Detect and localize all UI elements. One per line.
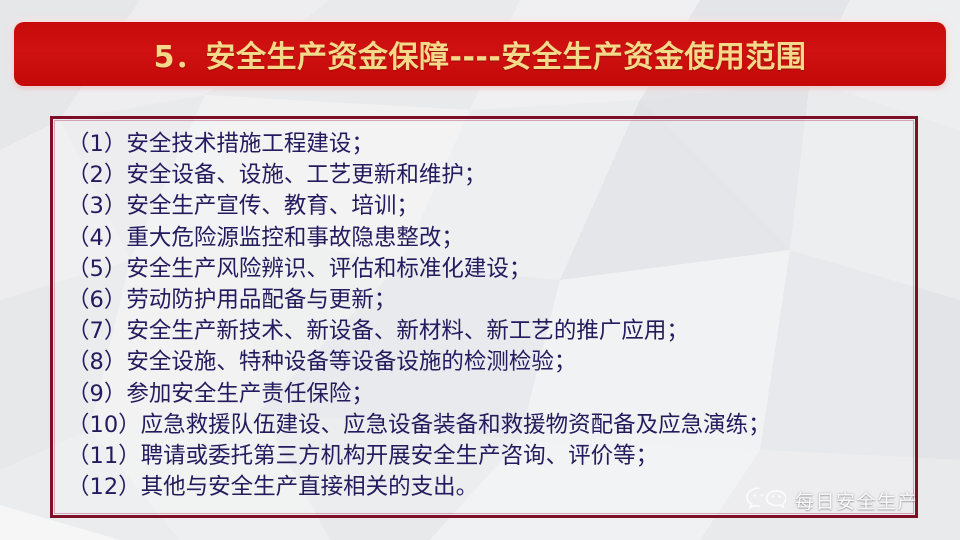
wechat-icon bbox=[744, 486, 786, 514]
watermark-label: 每日安全生产 bbox=[795, 487, 918, 514]
list-item: （8）安全设施、特种设备等设备设施的检测检验； bbox=[67, 347, 903, 378]
list-item: （10）应急救援队伍建设、应急设备装备和救援物资配备及应急演练； bbox=[67, 410, 903, 441]
title-banner: 5．安全生产资金保障----安全生产资金使用范围 bbox=[14, 22, 946, 86]
page-title: 5．安全生产资金保障----安全生产资金使用范围 bbox=[154, 32, 807, 76]
slide-canvas: 5．安全生产资金保障----安全生产资金使用范围 （1）安全技术措施工程建设； … bbox=[0, 0, 960, 540]
watermark: 每日安全生产 bbox=[744, 486, 918, 514]
scope-of-use-list: （1）安全技术措施工程建设； （2）安全设备、设施、工艺更新和维护； （3）安全… bbox=[67, 129, 903, 503]
content-box: （1）安全技术措施工程建设； （2）安全设备、设施、工艺更新和维护； （3）安全… bbox=[50, 116, 918, 518]
list-item: （3）安全生产宣传、教育、培训； bbox=[67, 191, 903, 222]
list-item: （4）重大危险源监控和事故隐患整改； bbox=[67, 223, 903, 254]
list-item: （2）安全设备、设施、工艺更新和维护； bbox=[67, 160, 903, 191]
content-box-inner-frame: （1）安全技术措施工程建设； （2）安全设备、设施、工艺更新和维护； （3）安全… bbox=[54, 120, 914, 514]
list-item: （5）安全生产风险辨识、评估和标准化建设； bbox=[67, 254, 903, 285]
list-item: （1）安全技术措施工程建设； bbox=[67, 129, 903, 160]
list-item: （7）安全生产新技术、新设备、新材料、新工艺的推广应用； bbox=[67, 316, 903, 347]
list-item: （6）劳动防护用品配备与更新； bbox=[67, 285, 903, 316]
list-item: （11）聘请或委托第三方机构开展安全生产咨询、评价等； bbox=[67, 441, 903, 472]
list-item: （9）参加安全生产责任保险； bbox=[67, 379, 903, 410]
